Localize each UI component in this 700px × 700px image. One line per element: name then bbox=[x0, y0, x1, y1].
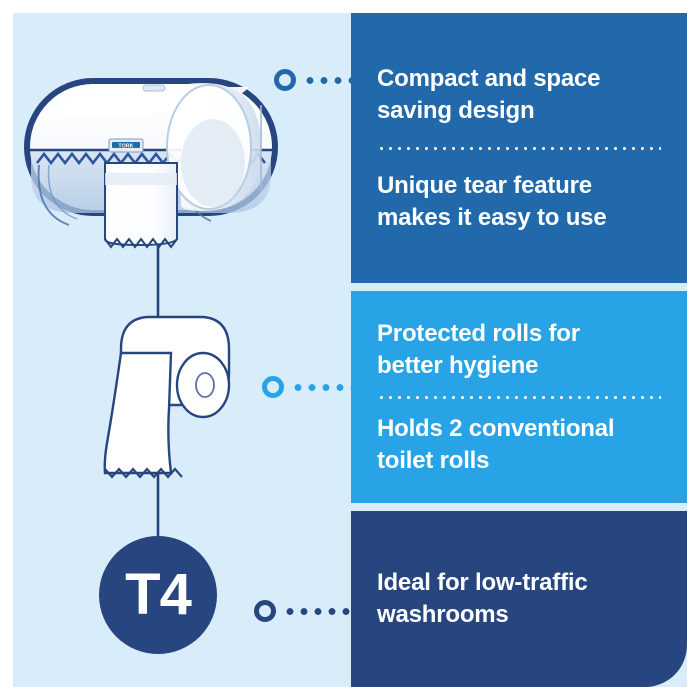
feature-text: Unique tear feature makes it easy to use bbox=[377, 164, 661, 240]
feature-text: Holds 2 conventional toilet rolls bbox=[377, 409, 661, 481]
connector-ring-icon bbox=[254, 600, 276, 622]
roll-core-hole bbox=[196, 373, 214, 397]
infographic-root: TORK bbox=[0, 0, 700, 700]
tork-logo: TORK bbox=[109, 139, 143, 152]
dispenser-latch bbox=[143, 85, 165, 91]
toilet-roll-illustration bbox=[105, 317, 229, 477]
feature-text: Ideal for low-traffic washrooms bbox=[377, 567, 661, 631]
feature-panel-hygiene: Protected rolls for better hygiene Holds… bbox=[351, 291, 687, 503]
feature-panel-compact: Compact and space saving design Unique t… bbox=[351, 13, 687, 283]
connector-ring-icon bbox=[274, 69, 296, 91]
connector-ring-icon bbox=[262, 376, 284, 398]
roll-hanging-sheet bbox=[105, 353, 171, 473]
badge-label: T4 bbox=[125, 566, 191, 624]
svg-text:TORK: TORK bbox=[118, 144, 133, 150]
feature-text: Compact and space saving design bbox=[377, 57, 661, 133]
feature-text: Protected rolls for better hygiene bbox=[377, 314, 661, 386]
feature-panel-usage: Ideal for low-traffic washrooms bbox=[351, 511, 687, 687]
dispenser-end-cap bbox=[167, 83, 261, 211]
dispenser-paper-sheet bbox=[105, 163, 177, 247]
feature-divider bbox=[377, 147, 661, 150]
product-system-badge: T4 bbox=[99, 536, 217, 654]
dispenser-illustration: TORK bbox=[27, 81, 275, 247]
feature-divider bbox=[377, 396, 661, 399]
